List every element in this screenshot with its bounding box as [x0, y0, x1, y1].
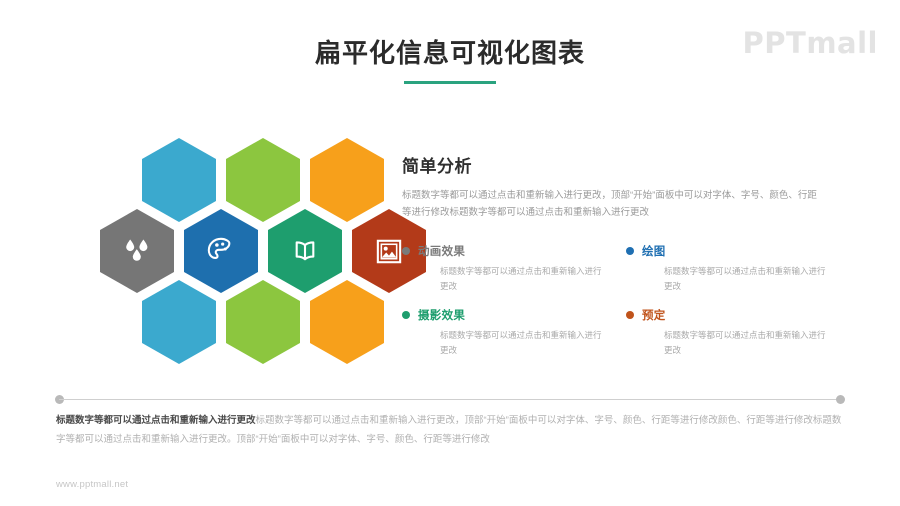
hex-top-orange[interactable] [310, 138, 384, 222]
droplets-icon [122, 237, 152, 265]
hex-mid-blue[interactable] [184, 209, 258, 293]
title-underline-rule [404, 81, 496, 84]
bullet-dot-icon [402, 247, 410, 255]
footer-url: www.pptmall.net [56, 479, 128, 490]
feature-item[interactable]: 绘图标题数字等都可以通过点击和重新输入进行更改 [626, 243, 850, 293]
hex-bottom-green[interactable] [226, 280, 300, 364]
feature-item[interactable]: 摄影效果标题数字等都可以通过点击和重新输入进行更改 [402, 307, 626, 357]
palette-icon [206, 236, 236, 266]
feature-title: 动画效果 [418, 243, 626, 259]
bottom-paragraph-lead: 标题数字等都可以通过点击和重新输入进行更改 [56, 415, 256, 426]
bullet-dot-icon [626, 247, 634, 255]
feature-item[interactable]: 预定标题数字等都可以通过点击和重新输入进行更改 [626, 307, 850, 357]
hex-bottom-blue[interactable] [142, 280, 216, 364]
section-description: 标题数字等都可以通过点击和重新输入进行更改，顶部“开始”面板中可以对字体、字号、… [402, 188, 820, 221]
hex-top-green[interactable] [226, 138, 300, 222]
hex-mid-gray[interactable] [100, 209, 174, 293]
feature-description: 标题数字等都可以通过点击和重新输入进行更改 [664, 328, 832, 357]
bullet-dot-icon [626, 311, 634, 319]
hex-top-blue[interactable] [142, 138, 216, 222]
divider-dot-right [836, 395, 845, 404]
hex-bottom-orange[interactable] [310, 280, 384, 364]
page-title: 扁平化信息可视化图表 [0, 38, 900, 69]
picture-icon [375, 238, 403, 265]
feature-description: 标题数字等都可以通过点击和重新输入进行更改 [664, 264, 832, 293]
feature-title: 摄影效果 [418, 307, 626, 323]
bottom-paragraph: 标题数字等都可以通过点击和重新输入进行更改标题数字等都可以通过点击和重新输入进行… [56, 412, 846, 449]
feature-item[interactable]: 动画效果标题数字等都可以通过点击和重新输入进行更改 [402, 243, 626, 293]
content-panel: 简单分析 标题数字等都可以通过点击和重新输入进行更改，顶部“开始”面板中可以对字… [402, 152, 862, 357]
bullet-dot-icon [402, 311, 410, 319]
feature-grid: 动画效果标题数字等都可以通过点击和重新输入进行更改绘图标题数字等都可以通过点击和… [402, 243, 862, 357]
book-icon [291, 237, 319, 265]
hex-mid-teal[interactable] [268, 209, 342, 293]
title-block: 扁平化信息可视化图表 [0, 38, 900, 84]
feature-title: 绘图 [642, 243, 850, 259]
divider [55, 395, 845, 404]
feature-description: 标题数字等都可以通过点击和重新输入进行更改 [440, 264, 608, 293]
section-heading: 简单分析 [402, 152, 862, 177]
hexagon-cluster [58, 138, 388, 363]
feature-title: 预定 [642, 307, 850, 323]
divider-line [59, 399, 841, 400]
feature-description: 标题数字等都可以通过点击和重新输入进行更改 [440, 328, 608, 357]
